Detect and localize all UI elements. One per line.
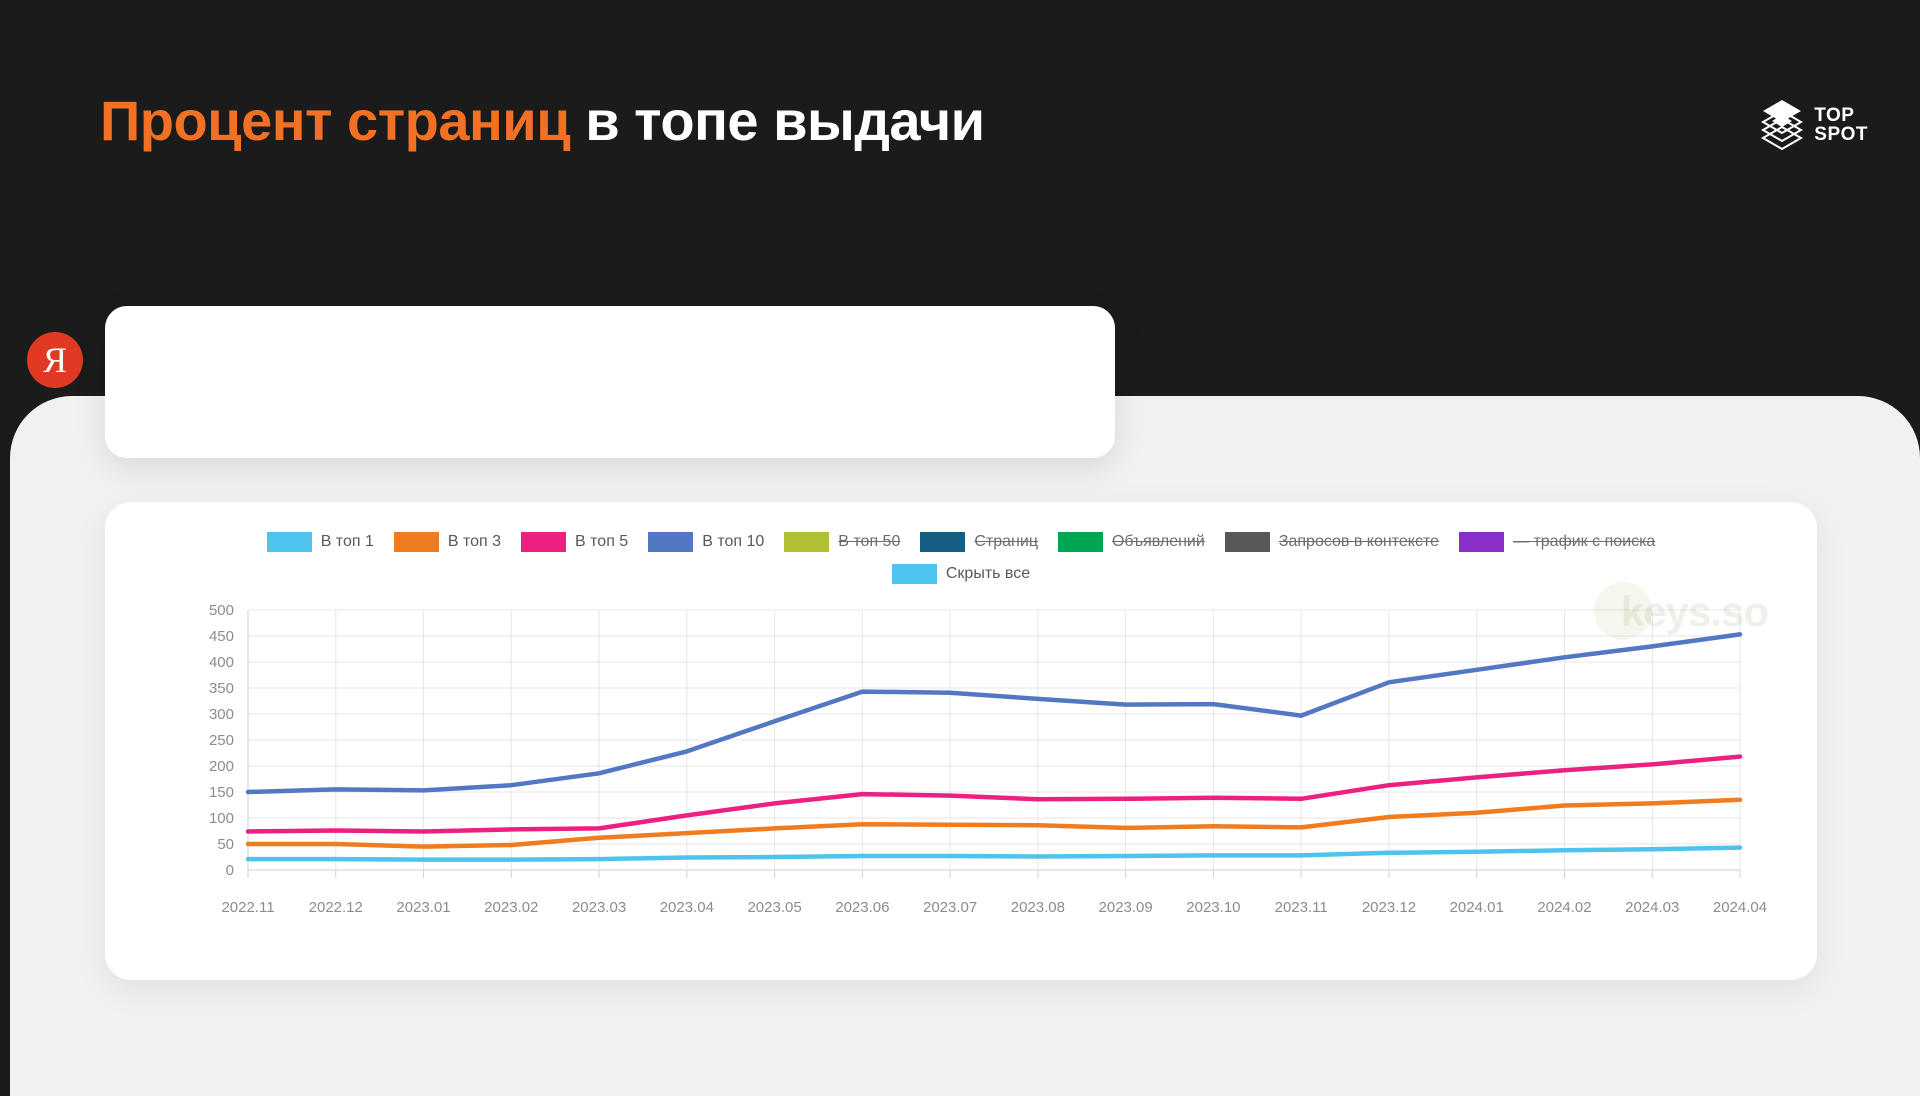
y-tick-label: 300 [209,706,234,723]
legend-item-4[interactable]: В топ 50 [784,532,900,552]
y-tick-label: 350 [209,680,234,697]
legend-swatch-2 [521,532,566,552]
chart-card: В топ 1В топ 3В топ 5В топ 10В топ 50Стр… [105,502,1817,980]
legend-swatch-5 [920,532,965,552]
line-chart-svg: 050100150200250300350400450500 2022.1120… [105,602,1817,980]
x-tick-label: 2023.09 [1099,899,1153,916]
legend-item-2[interactable]: В топ 5 [521,532,628,552]
chart-y-axis-labels: 050100150200250300350400450500 [209,602,234,879]
x-tick-label: 2023.04 [660,899,714,916]
chart-series-lines [248,634,1740,859]
brand-line-2: SPOT [1814,126,1868,145]
legend-item-7[interactable]: Запросов в контексте [1225,532,1439,552]
yandex-logo-icon[interactable]: Я [27,332,83,388]
y-tick-label: 450 [209,628,234,645]
series-line-2 [248,757,1740,832]
brand-logo: TOP SPOT [1761,98,1868,154]
x-tick-label: 2024.02 [1537,899,1591,916]
legend-label-2: В топ 5 [575,533,628,551]
legend-label-1: В топ 3 [448,533,501,551]
legend-swatch-8 [1459,532,1504,552]
legend-label-hide-all: Скрыть все [946,565,1030,583]
y-tick-label: 0 [226,862,234,879]
chart-x-axis-labels: 2022.112022.122023.012023.022023.032023.… [221,899,1767,916]
y-tick-label: 50 [217,836,234,853]
series-line-1 [248,800,1740,847]
brand-wordmark: TOP SPOT [1814,107,1868,144]
legend-item-3[interactable]: В топ 10 [648,532,764,552]
x-tick-label: 2024.03 [1625,899,1679,916]
legend-swatch-1 [394,532,439,552]
legend-swatch-0 [267,532,312,552]
series-line-3 [248,634,1740,792]
yandex-search-card [105,306,1115,458]
yandex-logo-letter: Я [43,342,67,378]
x-tick-label: 2023.01 [396,899,450,916]
y-tick-label: 150 [209,784,234,801]
legend-swatch-4 [784,532,829,552]
chart-gridlines [248,610,1740,878]
legend-swatch-hide-all [892,564,937,584]
legend-label-8: — трафик с поиска [1513,533,1655,551]
legend-swatch-3 [648,532,693,552]
chart-legend: В топ 1В топ 3В топ 5В топ 10В топ 50Стр… [105,532,1817,552]
x-tick-label: 2023.07 [923,899,977,916]
stacked-layers-icon [1761,98,1803,154]
x-tick-label: 2023.12 [1362,899,1416,916]
legend-label-7: Запросов в контексте [1279,533,1439,551]
y-tick-label: 200 [209,758,234,775]
chart-legend-secondary-row: Скрыть все [105,564,1817,584]
legend-label-5: Страниц [974,533,1038,551]
x-tick-label: 2023.10 [1186,899,1240,916]
legend-label-0: В топ 1 [321,533,374,551]
page-title-plain: в топе выдачи [570,89,984,152]
legend-item-hide-all[interactable]: Скрыть все [892,564,1030,584]
y-tick-label: 400 [209,654,234,671]
x-tick-label: 2023.08 [1011,899,1065,916]
legend-label-3: В топ 10 [702,533,764,551]
x-tick-label: 2022.12 [309,899,363,916]
page-title: Процент страниц в топе выдачи [100,88,985,153]
x-tick-label: 2023.06 [835,899,889,916]
legend-label-4: В топ 50 [838,533,900,551]
legend-swatch-7 [1225,532,1270,552]
x-tick-label: 2023.05 [747,899,801,916]
legend-item-6[interactable]: Объявлений [1058,532,1205,552]
y-tick-label: 500 [209,602,234,619]
x-tick-label: 2022.11 [221,899,274,916]
x-tick-label: 2024.04 [1713,899,1767,916]
legend-item-0[interactable]: В топ 1 [267,532,374,552]
y-tick-label: 250 [209,732,234,749]
y-tick-label: 100 [209,810,234,827]
x-tick-label: 2024.01 [1450,899,1504,916]
legend-label-6: Объявлений [1112,533,1205,551]
page-title-accent: Процент страниц [100,89,570,152]
x-tick-label: 2023.03 [572,899,626,916]
x-tick-label: 2023.11 [1275,899,1328,916]
legend-swatch-6 [1058,532,1103,552]
series-line-0 [248,848,1740,860]
x-tick-label: 2023.02 [484,899,538,916]
legend-item-5[interactable]: Страниц [920,532,1038,552]
legend-item-8[interactable]: — трафик с поиска [1459,532,1655,552]
legend-item-1[interactable]: В топ 3 [394,532,501,552]
chart-plot-area: 050100150200250300350400450500 2022.1120… [105,602,1817,980]
